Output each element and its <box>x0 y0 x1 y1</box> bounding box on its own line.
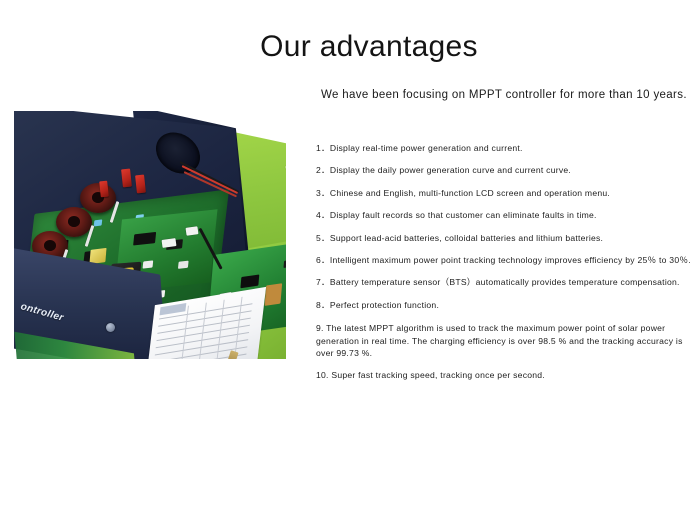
red-terminal <box>121 169 132 188</box>
wire-connector <box>186 226 199 236</box>
red-terminal <box>99 181 109 198</box>
red-terminal <box>135 175 146 194</box>
advantages-list: 1．Display real-time power generation and… <box>316 143 694 392</box>
list-item: 1．Display real-time power generation and… <box>316 143 694 154</box>
list-item: 8．Perfect protection function. <box>316 300 694 311</box>
list-item: 3．Chinese and English, multi-function LC… <box>316 188 694 199</box>
list-item: 2．Display the daily power generation cur… <box>316 165 694 176</box>
screw-icon <box>285 165 286 170</box>
slide-page: Our advantages We have been focusing on … <box>0 0 700 524</box>
list-item: 4．Display fault records so that customer… <box>316 210 694 221</box>
page-title: Our advantages <box>0 30 700 64</box>
list-item: 7．Battery temperature sensor（BTS）automat… <box>316 277 694 288</box>
toroidal-inductor <box>80 183 116 213</box>
list-item: 5．Support lead-acid batteries, colloidal… <box>316 233 694 244</box>
page-subtitle: We have been focusing on MPPT controller… <box>321 88 693 103</box>
list-item: 10. Super fast tracking speed, tracking … <box>316 370 694 381</box>
list-item: 9. The latest MPPT algorithm is used to … <box>316 322 694 360</box>
front-panel-button <box>106 323 115 332</box>
product-photo: ontroller <box>14 111 286 359</box>
list-item: 6．Intelligent maximum power point tracki… <box>316 255 694 266</box>
toroidal-inductor <box>56 207 92 237</box>
